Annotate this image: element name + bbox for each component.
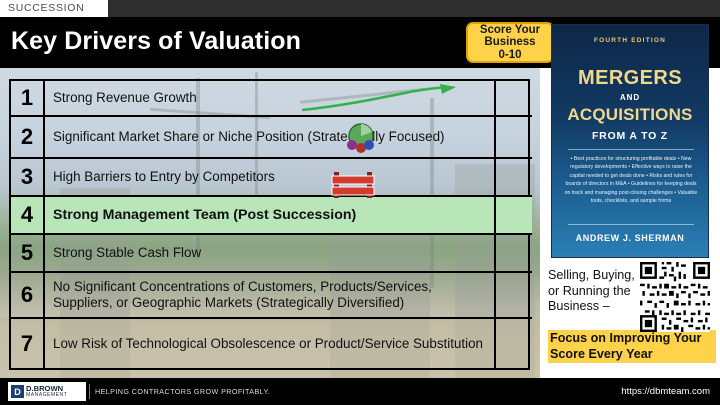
row-number: 6 xyxy=(11,273,45,317)
book-author: ANDREW J. SHERMAN xyxy=(552,233,708,243)
row-text: High Barriers to Entry by Competitors xyxy=(45,159,494,195)
row-text: Significant Market Share or Niche Positi… xyxy=(45,117,494,157)
row-text: Strong Stable Cash Flow xyxy=(45,235,494,271)
score-badge: Score Your Business 0-10 xyxy=(466,22,554,63)
row-number: 4 xyxy=(11,197,45,233)
score-cell[interactable] xyxy=(494,159,532,195)
logo-wordmark: D.BROWN MANAGEMENT xyxy=(26,385,67,398)
book-title-3: FROM A TO Z xyxy=(552,130,708,142)
book-divider xyxy=(568,224,694,225)
row-number: 3 xyxy=(11,159,45,195)
valuation-drivers-table: 1 Strong Revenue Growth 2 Significant Ma… xyxy=(9,79,530,370)
eyebrow-swatch xyxy=(108,0,720,17)
footer-divider xyxy=(89,384,90,399)
table-row: 7 Low Risk of Technological Obsolescence… xyxy=(11,319,532,368)
book-title-and: AND xyxy=(552,93,708,102)
score-badge-line1: Score Your xyxy=(480,24,540,36)
focus-callout: Focus on Improving Your Score Every Year xyxy=(548,330,716,363)
row-text: No Significant Concentrations of Custome… xyxy=(45,273,494,317)
growth-arrow-icon xyxy=(300,84,480,114)
row-number: 1 xyxy=(11,81,45,115)
row-number: 5 xyxy=(11,235,45,271)
score-cell[interactable] xyxy=(494,117,532,157)
book-title-2: ACQUISITIONS xyxy=(552,105,708,125)
row-text: Strong Management Team (Post Succession) xyxy=(45,197,494,233)
book-title-1: MERGERS xyxy=(552,67,708,90)
table-row-highlighted: 4 Strong Management Team (Post Successio… xyxy=(11,197,532,235)
logo-sub: MANAGEMENT xyxy=(26,393,67,398)
logo-mark-icon: D xyxy=(11,385,24,398)
score-cell[interactable] xyxy=(494,81,532,115)
selling-buying-text: Selling, Buying, or Running the Business… xyxy=(548,268,636,315)
eyebrow-label: SUCCESSION xyxy=(8,2,84,14)
table-row: 3 High Barriers to Entry by Competitors xyxy=(11,159,532,197)
book-divider xyxy=(568,149,694,150)
row-number: 7 xyxy=(11,319,45,368)
market-share-pie-icon xyxy=(342,122,380,154)
row-number: 2 xyxy=(11,117,45,157)
footer-url[interactable]: https://dbmteam.com xyxy=(621,386,710,397)
table-row: 6 No Significant Concentrations of Custo… xyxy=(11,273,532,319)
barrier-icon xyxy=(330,168,376,200)
eyebrow-bar: SUCCESSION xyxy=(0,0,720,17)
score-cell[interactable] xyxy=(494,273,532,317)
footer-bar: D D.BROWN MANAGEMENT HELPING CONTRACTORS… xyxy=(0,378,720,405)
row-text: Low Risk of Technological Obsolescence o… xyxy=(45,319,494,368)
table-row: 2 Significant Market Share or Niche Posi… xyxy=(11,117,532,159)
score-cell[interactable] xyxy=(494,235,532,271)
score-cell[interactable] xyxy=(494,197,532,233)
footer-tagline: HELPING CONTRACTORS GROW PROFITABLY. xyxy=(95,387,270,396)
book-bullets: • Best practices for structuring profita… xyxy=(562,155,700,206)
table-row: 5 Strong Stable Cash Flow xyxy=(11,235,532,273)
book-cover-image: FOURTH EDITION MERGERS AND ACQUISITIONS … xyxy=(551,24,709,258)
book-edition: FOURTH EDITION xyxy=(552,37,708,44)
qr-code-icon[interactable] xyxy=(640,262,710,332)
score-badge-line2: Business xyxy=(484,36,535,48)
page-title: Key Drivers of Valuation xyxy=(11,27,301,56)
company-logo: D D.BROWN MANAGEMENT xyxy=(8,382,86,401)
score-cell[interactable] xyxy=(494,319,532,368)
score-badge-line3: 0-10 xyxy=(498,49,521,61)
